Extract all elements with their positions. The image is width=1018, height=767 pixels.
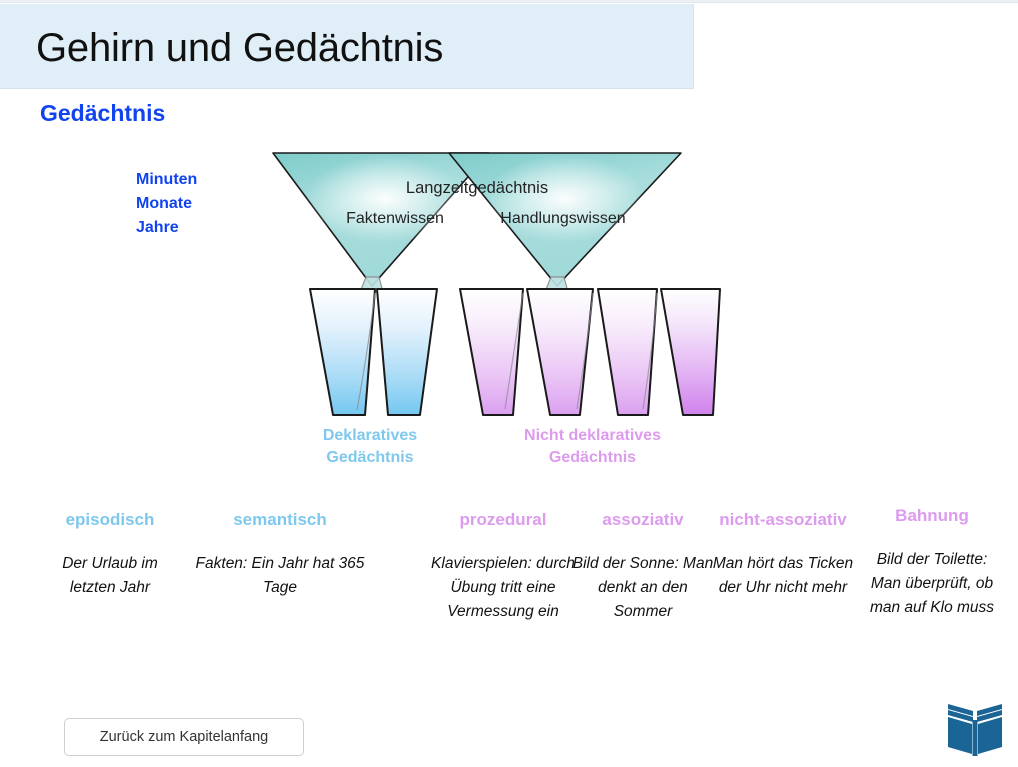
back-to-chapter-start-button[interactable]: Zurück zum Kapitelanfang — [64, 718, 304, 756]
timescale-labels: Minuten Monate Jahre — [136, 168, 197, 240]
column-nicht-assoziativ: nicht-assoziativ Man hört das Ticken der… — [708, 508, 858, 600]
declarative-funnels — [310, 289, 437, 415]
timescale-line-1: Minuten — [136, 168, 197, 192]
column-head-assoziativ: assoziativ — [568, 508, 718, 532]
nondeclarative-memory-label: Nicht deklaratives Gedächtnis — [495, 425, 690, 469]
window-top-edge — [0, 0, 1018, 3]
timescale-line-3: Jahre — [136, 216, 197, 240]
action-knowledge-label: Handlungswissen — [500, 210, 625, 227]
column-bahnung: Bahnung Bild der Toilette: Man überprüft… — [862, 504, 1002, 620]
declarative-memory-label: Deklaratives Gedächtnis — [290, 425, 450, 469]
longterm-memory-label: Langzeitgedächtnis — [406, 179, 548, 197]
column-head-bahnung: Bahnung — [862, 504, 1002, 528]
memory-funnel-diagram: Langzeitgedächtnis Faktenwissen Handlung… — [265, 145, 735, 435]
memory-type-columns: episodisch Der Urlaub im letzten Jahr se… — [40, 508, 1018, 688]
column-body-episodisch: Der Urlaub im letzten Jahr — [40, 552, 180, 600]
column-head-episodisch: episodisch — [40, 508, 180, 532]
column-episodisch: episodisch Der Urlaub im letzten Jahr — [40, 508, 180, 600]
column-prozedural: prozedural Klavierspielen: durch Übung t… — [430, 508, 576, 624]
column-body-nicht-assoziativ: Man hört das Ticken der Uhr nicht mehr — [708, 552, 858, 600]
column-assoziativ: assoziativ Bild der Sonne: Man denkt an … — [568, 508, 718, 624]
page-title: Gehirn und Gedächtnis — [36, 26, 443, 71]
nondeclarative-funnels — [460, 289, 720, 415]
fact-knowledge-label: Faktenwissen — [346, 210, 444, 227]
column-head-nicht-assoziativ: nicht-assoziativ — [708, 508, 858, 532]
slide-canvas: Gehirn und Gedächtnis Gedächtnis Minuten… — [0, 0, 1018, 767]
column-body-bahnung: Bild der Toilette: Man überprüft, ob man… — [862, 548, 1002, 620]
section-subtitle: Gedächtnis — [40, 100, 165, 127]
open-book-icon[interactable] — [944, 700, 1006, 758]
column-body-semantisch: Fakten: Ein Jahr hat 365 Tage — [194, 552, 366, 600]
column-semantisch: semantisch Fakten: Ein Jahr hat 365 Tage — [194, 508, 366, 600]
timescale-line-2: Monate — [136, 192, 197, 216]
column-head-prozedural: prozedural — [430, 508, 576, 532]
column-body-prozedural: Klavierspielen: durch Übung tritt eine V… — [430, 552, 576, 624]
column-head-semantisch: semantisch — [194, 508, 366, 532]
column-body-assoziativ: Bild der Sonne: Man denkt an den Sommer — [568, 552, 718, 624]
